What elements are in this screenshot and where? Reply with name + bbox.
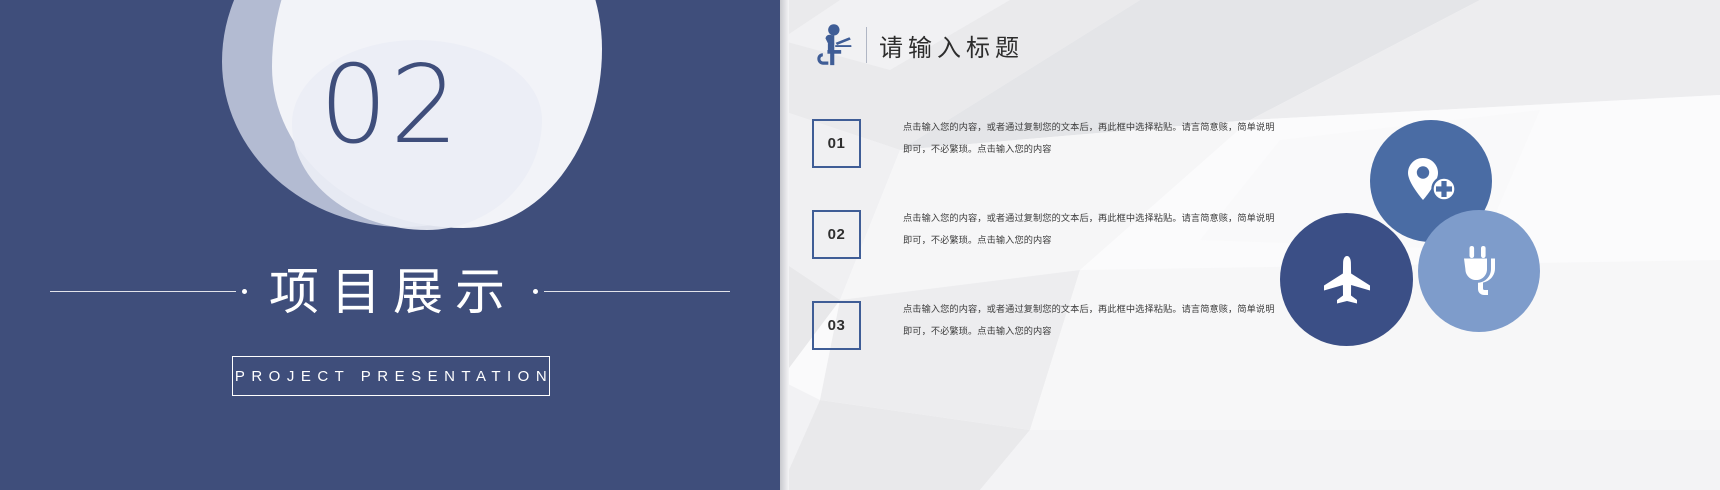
content-list: 01 点击输入您的内容，或者通过复制您的文本后，再此框中选择粘贴。请言简意赅，简… <box>812 112 1332 385</box>
header-divider <box>866 27 867 63</box>
item-number-badge: 02 <box>812 210 861 259</box>
panel-left-edge-shadow <box>780 0 789 490</box>
page-title: 请输入标题 <box>879 28 1024 63</box>
item-number: 02 <box>828 226 846 243</box>
item-line-2: 即可，不必繁琐。点击输入您的内容 <box>903 230 1275 252</box>
circle-airplane[interactable] <box>1280 213 1413 346</box>
item-body: 点击输入您的内容，或者通过复制您的文本后，再此框中选择粘贴。请言简意赅，简单说明… <box>903 294 1275 343</box>
section-title-row: 项目展示 <box>0 252 780 330</box>
item-number: 01 <box>828 135 846 152</box>
circle-power-plug[interactable] <box>1418 210 1540 332</box>
item-line-2: 即可，不必繁琐。点击输入您的内容 <box>903 139 1275 161</box>
item-body: 点击输入您的内容，或者通过复制您的文本后，再此框中选择粘贴。请言简意赅，简单说明… <box>903 112 1275 161</box>
left-section-panel: 02 项目展示 PROJECT PRESENTATION <box>0 0 780 490</box>
person-laptop-icon <box>810 22 854 68</box>
section-title-en: PROJECT PRESENTATION <box>229 368 553 385</box>
section-number: 02 <box>0 52 780 160</box>
section-subtitle-box: PROJECT PRESENTATION <box>232 356 550 396</box>
right-content-panel: 请输入标题 01 点击输入您的内容，或者通过复制您的文本后，再此框中选择粘贴。请… <box>780 0 1720 490</box>
item-line-1: 点击输入您的内容，或者通过复制您的文本后，再此框中选择粘贴。请言简意赅，简单说明 <box>903 304 1275 315</box>
title-dot-left <box>242 289 247 294</box>
item-body: 点击输入您的内容，或者通过复制您的文本后，再此框中选择粘贴。请言简意赅，简单说明… <box>903 203 1275 252</box>
item-number-badge: 03 <box>812 301 861 350</box>
presentation-slide: 02 项目展示 PROJECT PRESENTATION <box>0 0 1720 490</box>
content-header: 请输入标题 <box>810 22 1024 68</box>
title-dot-right <box>533 289 538 294</box>
item-line-2: 即可，不必繁琐。点击输入您的内容 <box>903 321 1275 343</box>
power-plug-icon <box>1455 244 1503 298</box>
section-title-cn: 项目展示 <box>253 252 527 330</box>
list-item[interactable]: 01 点击输入您的内容，或者通过复制您的文本后，再此框中选择粘贴。请言简意赅，简… <box>812 112 1332 203</box>
item-line-1: 点击输入您的内容，或者通过复制您的文本后，再此框中选择粘贴。请言简意赅，简单说明 <box>903 122 1275 133</box>
item-line-1: 点击输入您的内容，或者通过复制您的文本后，再此框中选择粘贴。请言简意赅，简单说明 <box>903 213 1275 224</box>
title-rule-right <box>544 291 730 292</box>
list-item[interactable]: 02 点击输入您的内容，或者通过复制您的文本后，再此框中选择粘贴。请言简意赅，简… <box>812 203 1332 294</box>
airplane-icon <box>1320 253 1374 307</box>
list-item[interactable]: 03 点击输入您的内容，或者通过复制您的文本后，再此框中选择粘贴。请言简意赅，简… <box>812 294 1332 385</box>
location-pin-hospital-icon <box>1403 156 1459 206</box>
title-rule-left <box>50 291 236 292</box>
item-number-badge: 01 <box>812 119 861 168</box>
item-number: 03 <box>828 317 846 334</box>
icon-circle-cluster <box>1270 120 1720 370</box>
